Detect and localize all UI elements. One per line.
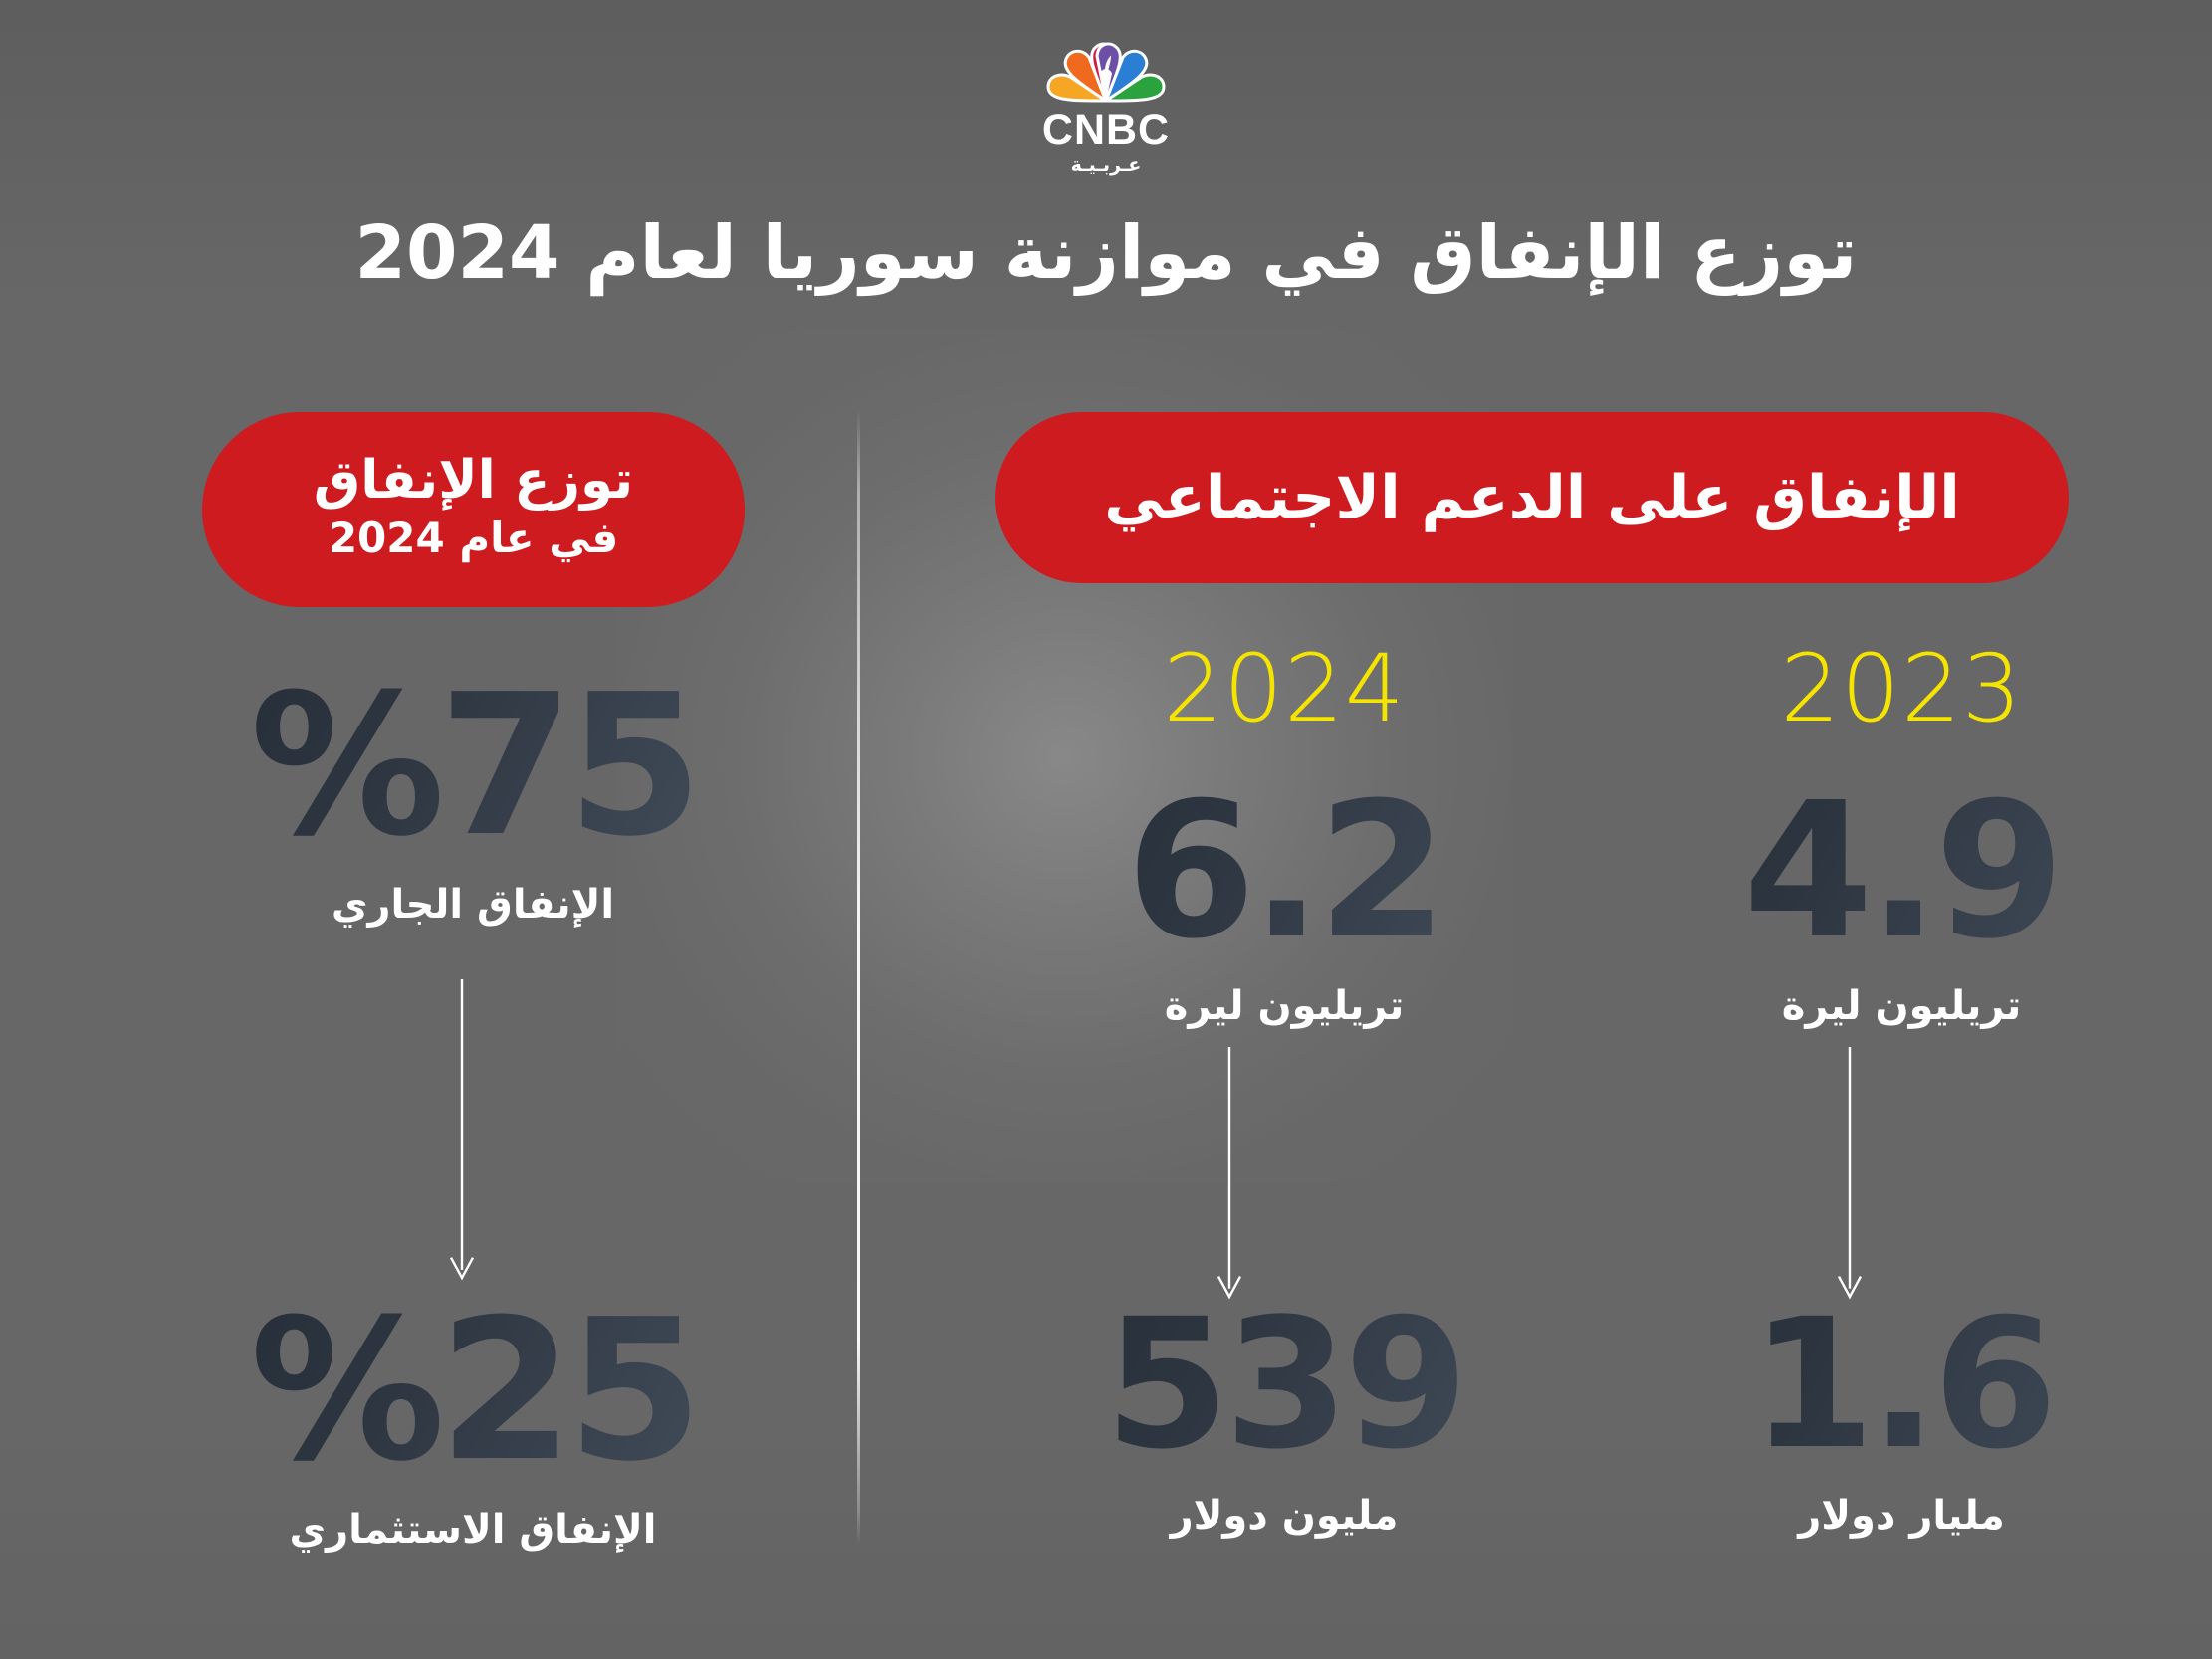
stat-2024-lira-label: تريليون ليرة — [995, 981, 1573, 1031]
badge-left-title: توزع الإنفاق — [314, 451, 633, 510]
arrow-down-icon — [1210, 1047, 1249, 1301]
badge-social-support-spending: الإنفاق على الدعم الاجتماعي — [995, 412, 2069, 583]
stat-2023-usd-label: مليار دولار — [1613, 1491, 2190, 1541]
stat-2023-lira-value: 4.9 — [1613, 778, 2190, 965]
badge-left-subtitle: في عام 2024 — [329, 514, 618, 563]
stat-2024-usd-value: 539 — [995, 1296, 1573, 1475]
stat-investment-spending: %25 الإنفاق الاستثماري — [169, 1294, 776, 1555]
stat-investment-spending-value: %25 — [169, 1294, 776, 1489]
stat-current-spending-label: الإنفاق الجاري — [169, 880, 776, 930]
cnbc-arabia-logo: CNBC عـربـيـة — [996, 28, 1216, 175]
year-label-2024: 2024 — [995, 643, 1573, 736]
vertical-divider — [857, 410, 860, 1545]
year-label-2023: 2023 — [1613, 643, 2190, 736]
stat-2023-lira-label: تريليون ليرة — [1613, 981, 2190, 1031]
stat-2024-lira-value: 6.2 — [995, 778, 1573, 965]
stat-2024-usd: 539 مليون دولار — [995, 1296, 1573, 1541]
arrow-down-icon — [1830, 1047, 1870, 1301]
cnbc-wordmark: CNBC — [1042, 109, 1170, 152]
stat-investment-spending-label: الإنفاق الاستثماري — [169, 1505, 776, 1555]
stat-2023-usd: 1.6 مليار دولار — [1613, 1296, 2190, 1541]
nbc-peacock-icon — [1041, 28, 1171, 107]
stat-2024-usd-label: مليون دولار — [995, 1491, 1573, 1541]
stat-current-spending-value: %75 — [169, 669, 776, 864]
arrow-down-icon — [442, 979, 482, 1282]
stat-2023-usd-value: 1.6 — [1613, 1296, 2190, 1475]
badge-spending-distribution: توزع الإنفاق في عام 2024 — [202, 412, 745, 607]
stat-2023-lira: 2023 4.9 تريليون ليرة — [1613, 643, 2190, 1031]
cnbc-arabic-wordmark: عـربـيـة — [1071, 156, 1142, 175]
page-title: توزع الإنفاق في موازنة سوريا لعام 2024 — [0, 211, 2212, 296]
badge-right-title: الإنفاق على الدعم الاجتماعي — [1104, 464, 1960, 532]
stat-current-spending: %75 الإنفاق الجاري — [169, 669, 776, 930]
stat-2024-lira: 2024 6.2 تريليون ليرة — [995, 643, 1573, 1031]
